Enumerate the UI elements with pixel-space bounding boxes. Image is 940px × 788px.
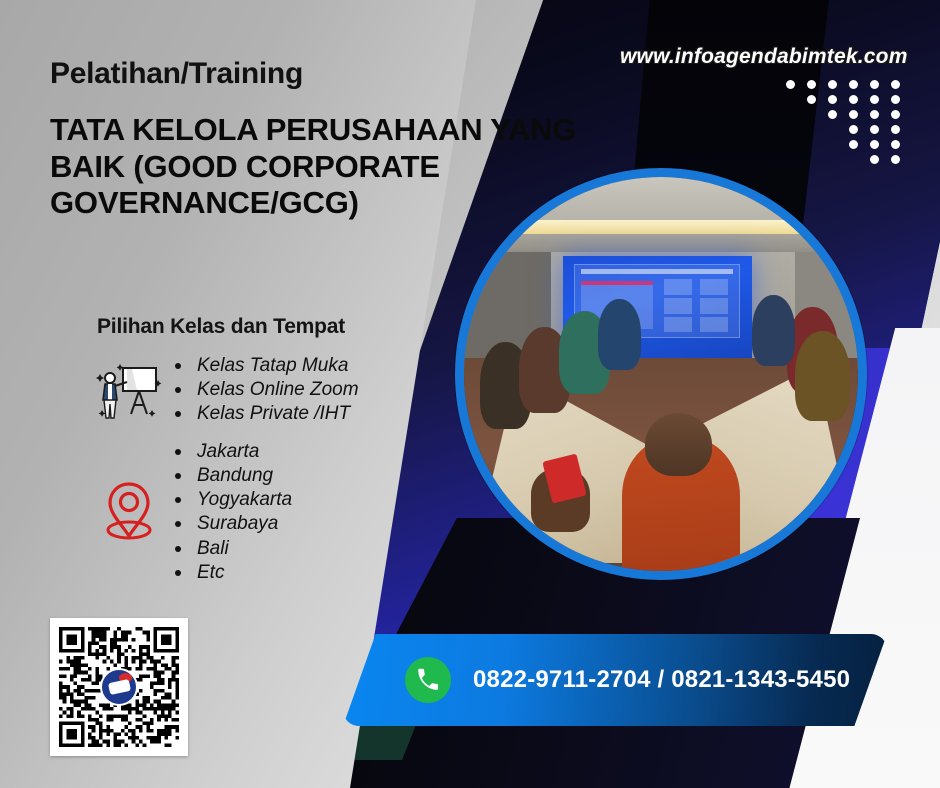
class-option-item: Kelas Private /IHT	[170, 402, 359, 426]
class-option-item: Kelas Online Zoom	[170, 378, 359, 402]
dot-grid-dot	[786, 110, 795, 119]
dot-grid-row	[786, 110, 900, 119]
dot-grid-decoration	[786, 80, 900, 170]
dot-grid-row	[786, 140, 900, 149]
dot-grid-dot	[828, 80, 837, 89]
training-flyer-poster: www.infoagendabimtek.com Pelatihan/Train…	[0, 0, 940, 788]
training-room-photo	[455, 168, 867, 580]
city-item: Surabaya	[170, 512, 292, 536]
city-item: Yogyakarta	[170, 488, 292, 512]
photo-scene	[464, 177, 858, 571]
contact-banner[interactable]: 0822-9711-2704 / 0821-1343-5450	[343, 634, 887, 726]
dot-grid-row	[786, 155, 900, 164]
dot-grid-dot	[807, 125, 816, 134]
dot-grid-dot	[807, 140, 816, 149]
dot-grid-dot	[870, 125, 879, 134]
city-item: Bandung	[170, 464, 292, 488]
dot-grid-dot	[828, 95, 837, 104]
dot-grid-dot	[849, 80, 858, 89]
phone-numbers: 0822-9711-2704 / 0821-1343-5450	[473, 666, 850, 694]
dot-grid-dot	[891, 140, 900, 149]
cities-list: Jakarta Bandung Yogyakarta Surabaya Bali…	[170, 440, 292, 585]
dot-grid-dot	[870, 155, 879, 164]
city-item: Jakarta	[170, 440, 292, 464]
dot-grid-dot	[891, 80, 900, 89]
dot-grid-row	[786, 95, 900, 104]
dot-grid-dot	[870, 95, 879, 104]
dot-grid-dot	[807, 80, 816, 89]
dot-grid-dot	[891, 155, 900, 164]
dot-grid-dot	[849, 110, 858, 119]
dot-grid-dot	[870, 80, 879, 89]
qr-code-icon[interactable]	[50, 618, 188, 756]
dot-grid-dot	[849, 95, 858, 104]
dot-grid-dot	[891, 95, 900, 104]
dot-grid-dot	[786, 80, 795, 89]
class-options-list: Kelas Tatap Muka Kelas Online Zoom Kelas…	[170, 354, 359, 426]
city-item: Etc	[170, 561, 292, 585]
options-heading: Pilihan Kelas dan Tempat	[97, 315, 345, 339]
dot-grid-dot	[807, 110, 816, 119]
dot-grid-dot	[849, 125, 858, 134]
dot-grid-dot	[786, 140, 795, 149]
class-option-item: Kelas Tatap Muka	[170, 354, 359, 378]
city-item: Bali	[170, 537, 292, 561]
dot-grid-dot	[828, 110, 837, 119]
dot-grid-dot	[891, 125, 900, 134]
dot-grid-row	[786, 125, 900, 134]
dot-grid-row	[786, 80, 900, 89]
dot-grid-dot	[828, 155, 837, 164]
location-pin-icon	[101, 478, 157, 549]
dot-grid-dot	[786, 125, 795, 134]
dot-grid-dot	[849, 155, 858, 164]
dot-grid-dot	[870, 110, 879, 119]
dot-grid-dot	[786, 95, 795, 104]
website-url: www.infoagendabimtek.com	[620, 45, 908, 69]
dot-grid-dot	[891, 110, 900, 119]
dot-grid-dot	[870, 140, 879, 149]
qr-center-logo	[100, 668, 138, 706]
dot-grid-dot	[786, 155, 795, 164]
dot-grid-dot	[807, 155, 816, 164]
kicker-label: Pelatihan/Training	[50, 57, 303, 91]
presenter-flipchart-icon	[96, 362, 162, 429]
dot-grid-dot	[828, 140, 837, 149]
dot-grid-dot	[849, 140, 858, 149]
dot-grid-dot	[807, 95, 816, 104]
phone-icon	[405, 657, 451, 703]
handshake-icon	[107, 679, 130, 695]
dot-grid-dot	[828, 125, 837, 134]
